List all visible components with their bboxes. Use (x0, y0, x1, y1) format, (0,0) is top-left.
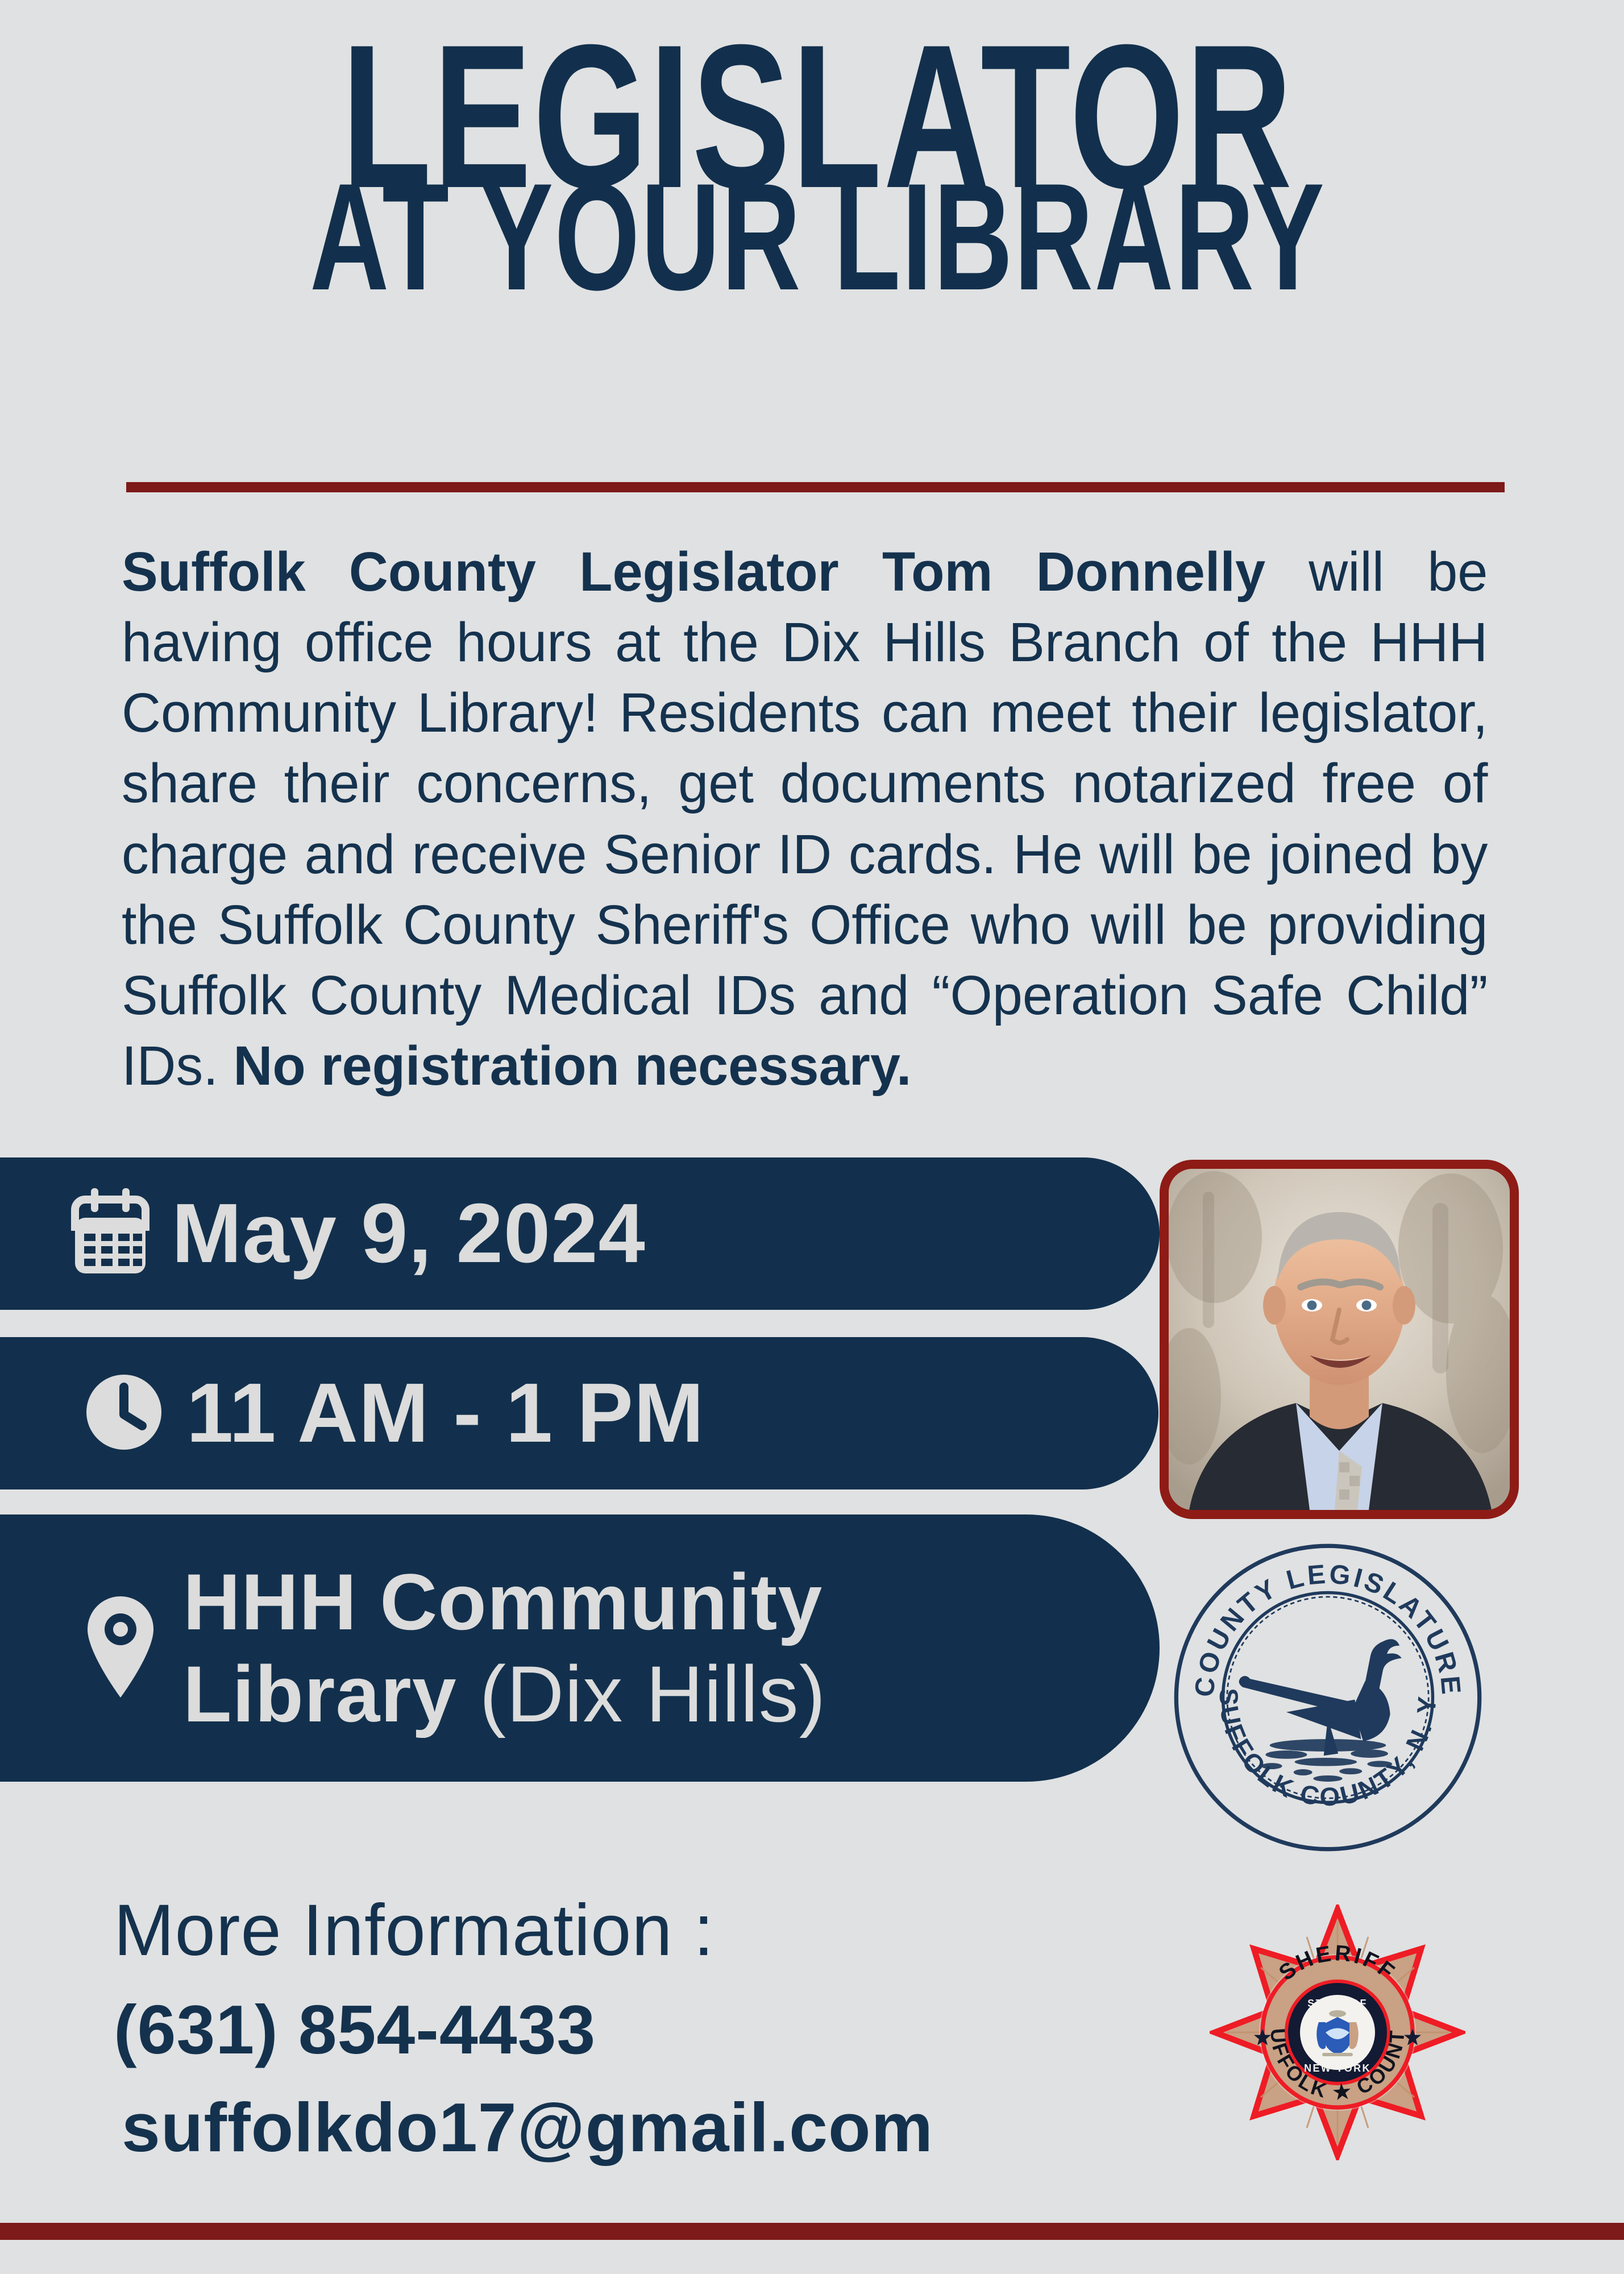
event-location: HHH Community Library (Dix Hills) (183, 1556, 826, 1741)
body-middle: will be having office hours at the Dix H… (122, 541, 1488, 1097)
event-time: 11 AM - 1 PM (186, 1371, 704, 1455)
more-information-label: More Information : (114, 1889, 715, 1972)
body-emphasis: No registration necessary. (233, 1035, 911, 1097)
detail-pill-date: May 9, 2024 (0, 1157, 1160, 1310)
poster-canvas: LEGISLATOR AT YOUR LIBRARY Suffolk Count… (0, 0, 1624, 2274)
location-line-2: Library (183, 1649, 480, 1738)
body-lead: Suffolk County Legislator Tom Donnelly (122, 541, 1265, 603)
detail-pill-time: 11 AM - 1 PM (0, 1337, 1158, 1489)
location-line-1: HHH Community (183, 1557, 823, 1646)
suffolk-county-sheriff-badge: SHERIFF SUFFOLK ★ COUNTY STATE OF NEW YO… (1210, 1904, 1465, 2160)
page-title: LEGISLATOR AT YOUR LIBRARY (0, 23, 1624, 307)
contact-phone[interactable]: (631) 854-4433 (114, 1990, 596, 2069)
divider-rule-top (126, 482, 1505, 492)
detail-pill-location: HHH Community Library (Dix Hills) (0, 1514, 1160, 1782)
title-line-2: AT YOUR LIBRARY (237, 167, 1398, 307)
map-pin-icon (82, 1594, 159, 1703)
calendar-icon (68, 1187, 152, 1281)
plow-emblem (1239, 1639, 1402, 1756)
tom-donnelly-headshot (1160, 1160, 1519, 1519)
clock-icon (84, 1372, 164, 1455)
contact-email[interactable]: suffolkdo17@gmail.com (122, 2088, 933, 2167)
event-date: May 9, 2024 (172, 1192, 646, 1276)
body-paragraph: Suffolk County Legislator Tom Donnelly w… (122, 537, 1488, 1101)
badge-center-bottom-text: NEW YORK (1304, 2063, 1371, 2074)
divider-rule-bottom (0, 2223, 1624, 2240)
suffolk-county-legislature-seal: COUNTY LEGISLATURE SUFFOLK COUNTY, N. Y. (1172, 1542, 1484, 1853)
location-line-2-sub: (Dix Hills) (480, 1649, 826, 1738)
badge-center-top-text: STATE OF (1307, 1998, 1368, 2009)
